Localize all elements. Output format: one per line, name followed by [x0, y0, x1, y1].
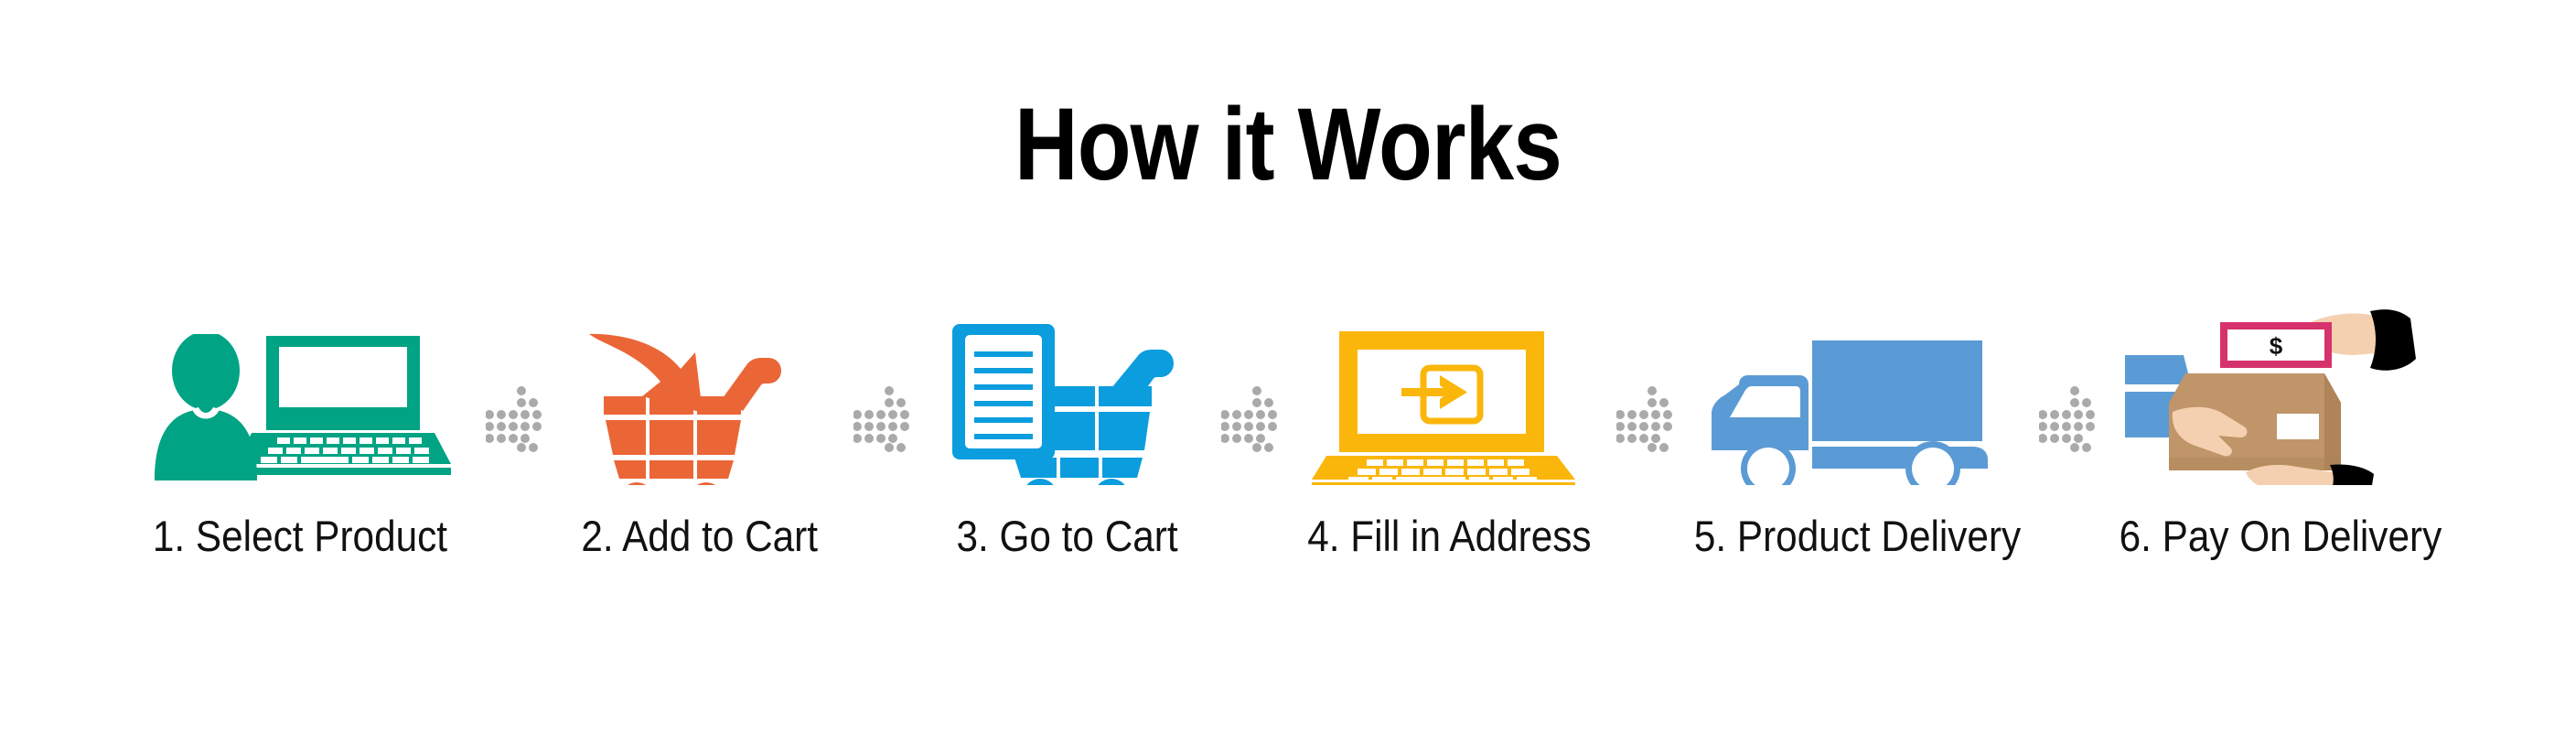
hands-exchanging-box-and-money-icon: $: [2107, 302, 2454, 485]
cart-with-curved-arrow-icon: [526, 302, 874, 485]
page-title: How it Works: [180, 90, 2396, 200]
step-2-add-to-cart[interactable]: 2. Add to Cart: [549, 302, 851, 560]
step-3-label: 3. Go to Cart: [957, 513, 1178, 560]
laptop-with-login-arrow-icon: [1275, 302, 1623, 485]
person-with-laptop-icon: [126, 302, 474, 485]
how-it-works-infographic: How it Works: [0, 0, 2576, 745]
step-6-label: 6. Pay On Delivery: [2120, 513, 2442, 560]
money-bill: $: [2220, 322, 2332, 368]
step-2-label: 2. Add to Cart: [582, 513, 819, 560]
step-1-label: 1. Select Product: [153, 513, 447, 560]
step-3-go-to-cart[interactable]: 3. Go to Cart: [917, 302, 1218, 560]
steps-row: 1. Select Product: [0, 302, 2576, 632]
delivery-truck-icon: [1684, 302, 2032, 485]
step-4-fill-in-address[interactable]: 4. Fill in Address: [1284, 302, 1614, 560]
step-1-select-product[interactable]: 1. Select Product: [117, 302, 483, 560]
dotted-right-arrow-icon: [1614, 328, 1680, 511]
document-with-cart-icon: [894, 302, 1241, 485]
step-4-label: 4. Fill in Address: [1307, 513, 1591, 560]
step-5-label: 5. Product Delivery: [1694, 513, 2021, 560]
step-5-product-delivery[interactable]: 5. Product Delivery: [1680, 302, 2036, 560]
dotted-right-arrow-icon: [2036, 328, 2102, 511]
svg-text:$: $: [2270, 332, 2283, 360]
step-6-pay-on-delivery[interactable]: $: [2102, 302, 2459, 560]
